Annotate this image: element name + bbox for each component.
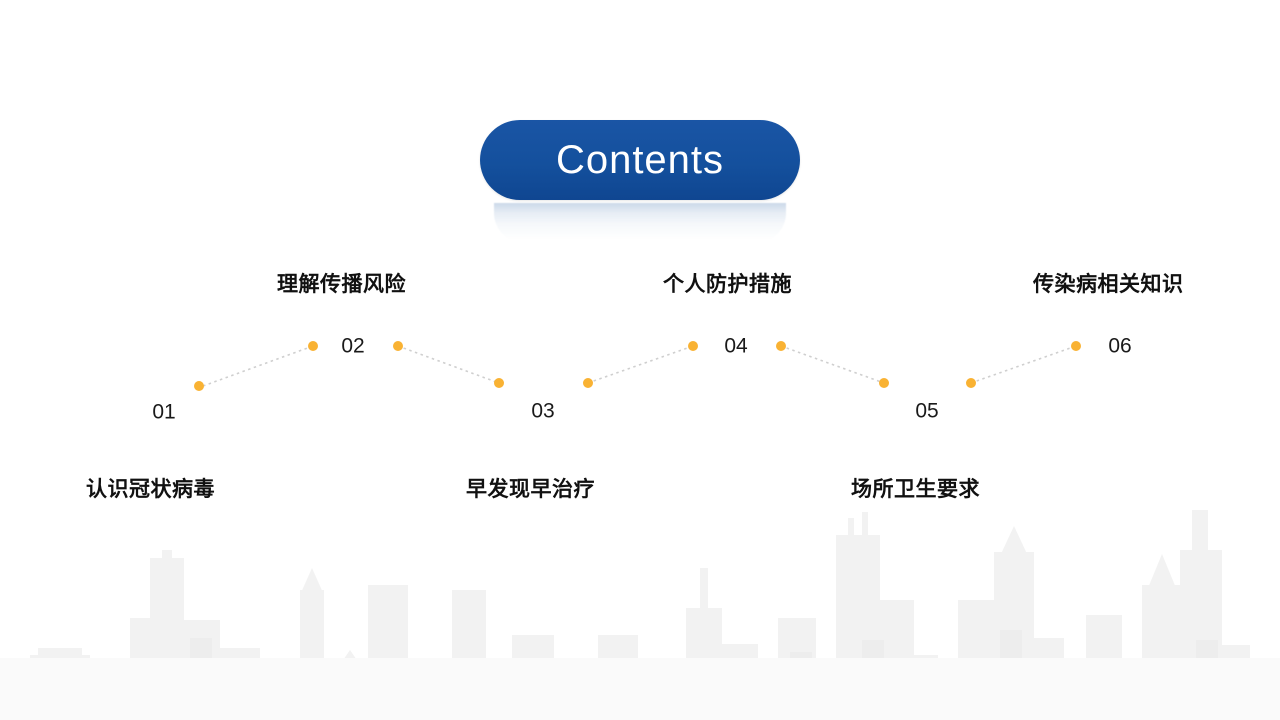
city-skyline-decoration [0, 490, 1280, 720]
connector-03-04 [588, 346, 693, 383]
connector-04-05 [781, 346, 884, 383]
node-number-04: 04 [724, 335, 748, 358]
step-label-05: 场所卫生要求 [851, 473, 980, 503]
flow-node-06[interactable]: 06 [1071, 335, 1141, 510]
connector-dot-04-left [688, 341, 698, 351]
node-number-05: 05 [915, 400, 938, 423]
connector-dot-02-left [308, 341, 318, 351]
contents-title-pill: Contents [480, 120, 800, 200]
contents-title-block: Contents [480, 120, 800, 230]
node-number-03: 03 [531, 400, 554, 423]
step-label-04: 个人防护措施 [663, 268, 792, 298]
page-title: Contents [556, 140, 724, 180]
connector-dot-05-right [966, 378, 976, 388]
flow-node-02[interactable]: 02 [307, 335, 403, 510]
step-label-03: 早发现早治疗 [466, 473, 595, 503]
connector-01-02 [203, 346, 313, 386]
connector-dot-03-right [583, 378, 593, 388]
connector-02-03 [398, 346, 499, 383]
slide-canvas: Contents 01 02 [0, 0, 1280, 720]
step-label-01: 认识冠状病毒 [86, 473, 215, 503]
connector-dot-03-left [494, 378, 504, 388]
contents-flow-diagram: 01 02 03 04 [0, 250, 1280, 510]
flow-connectors [203, 346, 1076, 386]
step-label-06: 传染病相关知识 [1033, 268, 1184, 298]
connector-dot-06-left [1071, 341, 1081, 351]
connector-dot-05-left [879, 378, 889, 388]
ground-band [0, 658, 1280, 720]
connector-dot-04-right [776, 341, 786, 351]
step-label-02: 理解传播风险 [277, 268, 406, 298]
connector-dot-02-right [393, 341, 403, 351]
title-reflection [494, 203, 786, 243]
node-number-01: 01 [152, 401, 175, 424]
flow-node-04[interactable]: 04 [688, 335, 786, 510]
node-number-06: 06 [1108, 335, 1131, 358]
node-number-02: 02 [341, 335, 364, 358]
connector-dot-01 [194, 381, 204, 391]
connector-05-06 [971, 346, 1076, 383]
